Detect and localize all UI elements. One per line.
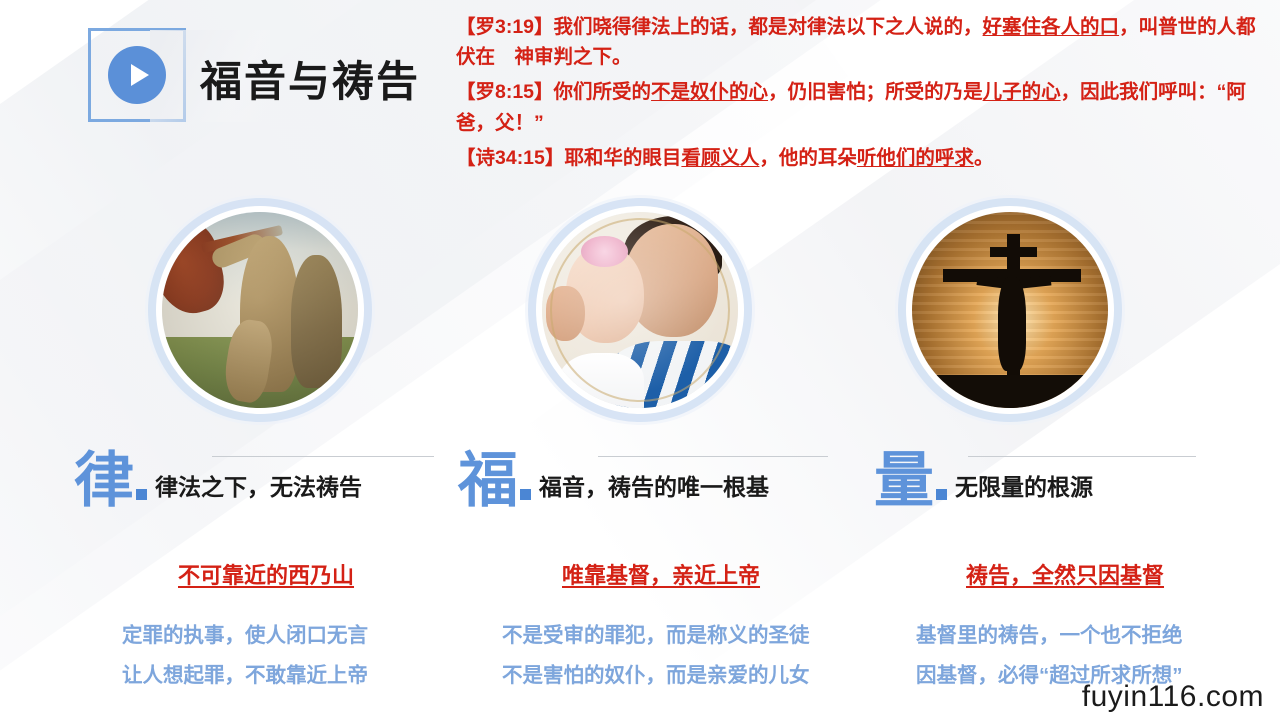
presentation-slide: 福音与祷告 【罗3:19】我们晓得律法上的话，都是对律法以下之人说的，好塞住各人…: [0, 0, 1280, 720]
scripture-block: 【罗3:19】我们晓得律法上的话，都是对律法以下之人说的，好塞住各人的口，叫普世…: [456, 12, 1266, 178]
crucifix-sunset-photo: [912, 212, 1108, 408]
body-line: 让人想起罪，不敢靠近上帝: [122, 656, 368, 696]
column-big-char: 律: [74, 452, 134, 509]
play-button-icon: [108, 46, 166, 104]
square-bullet-icon: [136, 489, 147, 500]
column-big-char: 福: [458, 452, 518, 509]
column-heading-1: 律 律法之下，无法祷告: [74, 452, 362, 509]
scripture-emphasis: 看顾义人: [681, 147, 759, 169]
column-big-char: 量: [874, 452, 934, 509]
scripture-reference: 【诗34:15】: [456, 147, 564, 169]
scripture-emphasis: 听他们的呼求: [857, 147, 974, 169]
scripture-reference: 【罗8:15】: [456, 81, 554, 103]
photo-ground: [912, 375, 1108, 408]
scripture-text: 。: [974, 147, 994, 169]
photo-tone-overlay: [162, 212, 358, 408]
column-red-subtitle-1: 不可靠近的西乃山: [178, 558, 354, 590]
scripture-emphasis: 儿子的心: [983, 81, 1061, 103]
scripture-verse: 【诗34:15】耶和华的眼目看顾义人，他的耳朵听他们的呼求。: [456, 143, 1266, 173]
site-watermark: fuyin116.com: [1082, 680, 1264, 714]
scripture-emphasis: 好塞住各人的口: [983, 16, 1120, 38]
column-heading-3: 量 无限量的根源: [874, 452, 1093, 509]
scripture-text: 你们所受的: [554, 81, 652, 103]
body-line: 定罪的执事，使人闭口无言: [122, 616, 368, 656]
scripture-text: ，他的耳朵: [759, 147, 857, 169]
column-heading-text: 福音，祷告的唯一根基: [539, 468, 769, 509]
body-line: 不是害怕的奴仆，而是亲爱的儿女: [502, 656, 810, 696]
play-triangle-icon: [131, 64, 149, 86]
column-heading-text: 无限量的根源: [955, 468, 1093, 509]
column-heading-text: 律法之下，无法祷告: [155, 468, 362, 509]
scripture-verse: 【罗8:15】你们所受的不是奴仆的心，仍旧害怕；所受的乃是儿子的心，因此我们呼叫…: [456, 77, 1266, 137]
photo-figure-body: [998, 277, 1025, 371]
column-heading-2: 福 福音，祷告的唯一根基: [458, 452, 769, 509]
scripture-verse: 【罗3:19】我们晓得律法上的话，都是对律法以下之人说的，好塞住各人的口，叫普世…: [456, 12, 1266, 72]
square-bullet-icon: [936, 489, 947, 500]
photo-inner-ring: [550, 218, 730, 402]
column-body-1: 定罪的执事，使人闭口无言 让人想起罪，不敢靠近上帝: [122, 616, 368, 696]
scripture-text: 耶和华的眼目: [564, 147, 681, 169]
body-line: 不是受审的罪犯，而是称义的圣徒: [502, 616, 810, 656]
father-and-baby-photo: [542, 212, 738, 408]
scripture-reference: 【罗3:19】: [456, 16, 554, 38]
column-body-2: 不是受审的罪犯，而是称义的圣徒 不是害怕的奴仆，而是亲爱的儿女: [502, 616, 810, 696]
body-line: 基督里的祷告，一个也不拒绝: [916, 616, 1183, 656]
scripture-text: 我们晓得律法上的话，都是对律法以下之人说的，: [554, 16, 983, 38]
square-bullet-icon: [520, 489, 531, 500]
column-red-subtitle-2: 唯靠基督，亲近上帝: [562, 558, 760, 590]
expulsion-from-paradise-photo: [162, 212, 358, 408]
scripture-emphasis: 不是奴仆的心: [651, 81, 768, 103]
scripture-text: ，仍旧害怕；所受的乃是: [768, 81, 983, 103]
page-title: 福音与祷告: [200, 48, 420, 109]
column-red-subtitle-3: 祷告，全然只因基督: [966, 558, 1164, 590]
